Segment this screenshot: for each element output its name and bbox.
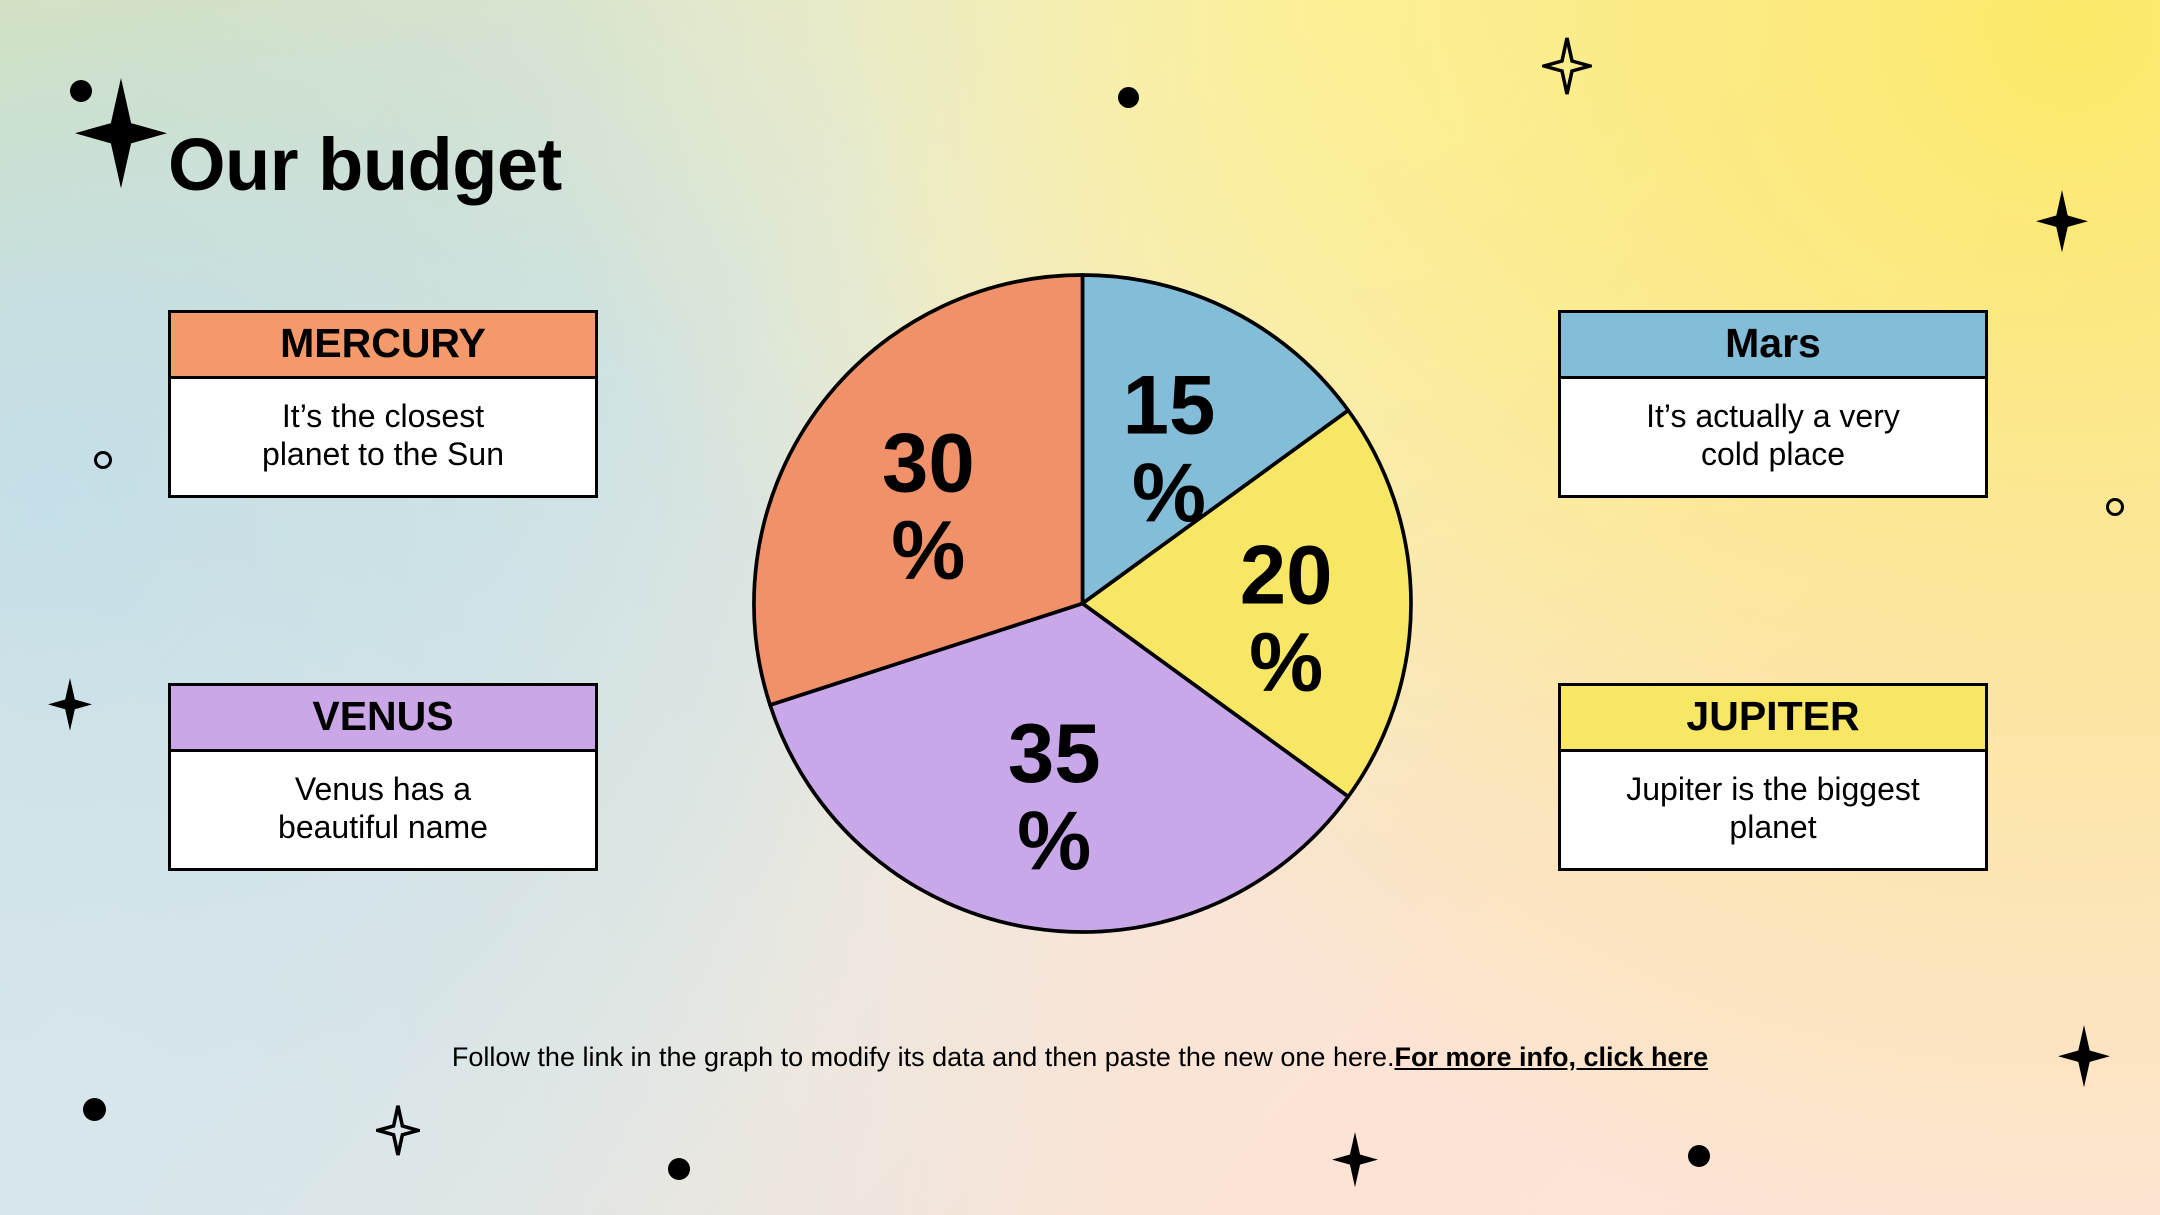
four-point-star-outline-icon [1542,36,1592,96]
planet-card-venus-title: VENUS [171,686,595,752]
planet-card-jupiter-title: JUPITER [1561,686,1985,752]
four-point-star-outline-icon [376,1104,420,1158]
planet-card-venus-body-line1: Venus has a [278,771,488,809]
planet-card-mercury-title: MERCURY [171,313,595,379]
planet-card-venus-body: Venus has a beautiful name [171,752,595,868]
planet-card-mars-body: It’s actually a very cold place [1561,379,1985,495]
planet-card-jupiter-body-line2: planet [1626,809,1920,847]
planet-card-jupiter-body: Jupiter is the biggest planet [1561,752,1985,868]
footer-note-text: Follow the link in the graph to modify i… [452,1042,1395,1072]
planet-card-venus-body-line2: beautiful name [278,809,488,847]
planet-card-jupiter-body-line1: Jupiter is the biggest [1626,771,1920,809]
slide-canvas: Our budget MERCURY It’s the closest plan… [0,0,2160,1215]
dot-filled-icon [83,1098,106,1121]
dot-outline-icon [2105,497,2125,517]
planet-card-mars-body-line2: cold place [1646,436,1900,474]
dot-outline-icon [93,450,113,470]
planet-card-venus[interactable]: VENUS Venus has a beautiful name [168,683,598,871]
pie-slice-label-35: 35% [1008,707,1101,888]
dot-filled-icon [70,80,92,102]
planet-card-mars-body-line1: It’s actually a very [1646,398,1900,436]
dot-filled-icon [668,1158,690,1180]
planet-card-jupiter[interactable]: JUPITER Jupiter is the biggest planet [1558,683,1988,871]
pie-slice-label-30: 30% [882,417,975,598]
more-info-link[interactable]: For more info, click here [1395,1042,1709,1072]
planet-card-mercury-body: It’s the closest planet to the Sun [171,379,595,495]
dot-filled-icon [1118,87,1139,108]
pie-chart-svg: 15%20%35%30% [749,270,1416,937]
four-point-star-filled-icon [48,678,92,732]
planet-card-mars[interactable]: Mars It’s actually a very cold place [1558,310,1988,498]
four-point-star-filled-icon [75,78,167,188]
pie-slice-label-15: 15% [1123,359,1216,540]
page-title: Our budget [168,128,562,202]
budget-pie-chart[interactable]: 15%20%35%30% [749,270,1416,937]
pie-slice-label-20: 20% [1240,529,1333,710]
planet-card-mercury[interactable]: MERCURY It’s the closest planet to the S… [168,310,598,498]
dot-filled-icon [1688,1145,1710,1167]
planet-card-mercury-body-line2: planet to the Sun [262,436,504,474]
four-point-star-filled-icon [2036,190,2088,252]
planet-card-mercury-body-line1: It’s the closest [262,398,504,436]
footer-note: Follow the link in the graph to modify i… [0,1042,2160,1073]
four-point-star-filled-icon [1332,1132,1378,1188]
planet-card-mars-title: Mars [1561,313,1985,379]
